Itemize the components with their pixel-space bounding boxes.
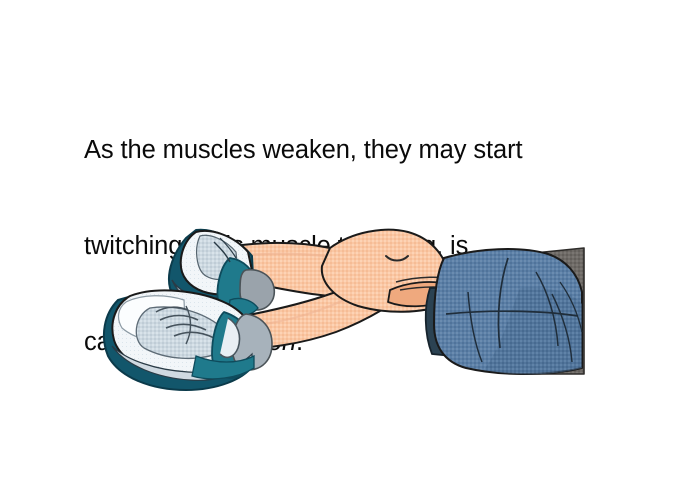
illustration-legs-with-sneakers [0, 196, 700, 426]
denim-shorts [434, 249, 582, 374]
slide-canvas: As the muscles weaken, they may start tw… [0, 0, 700, 480]
caption-line-1: As the muscles weaken, they may start [84, 134, 594, 166]
